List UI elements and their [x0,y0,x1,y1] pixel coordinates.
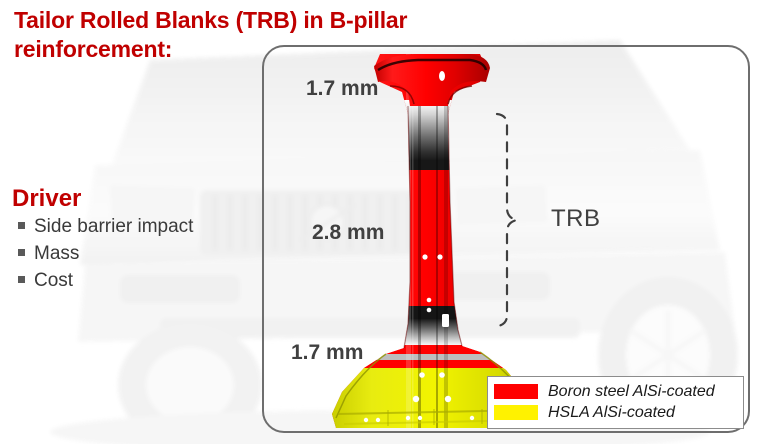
driver-heading: Driver [12,186,252,212]
list-item: Cost [12,268,252,295]
list-item: Side barrier impact [12,214,252,241]
legend-item-boron: Boron steel AlSi-coated [494,381,737,402]
legend: Boron steel AlSi-coated HSLA AlSi-coated [487,376,744,429]
thickness-label-bottom: 1.7 mm [291,341,363,365]
legend-label-hsla: HSLA AlSi-coated [548,404,675,422]
driver-bullet-label: Mass [34,241,79,268]
square-bullet-icon [18,249,25,256]
slide-canvas: Tailor Rolled Blanks (TRB) in B-pillar r… [0,0,768,444]
square-bullet-icon [18,222,25,229]
trb-label: TRB [551,205,601,233]
driver-bullet-label: Side barrier impact [34,214,193,241]
list-item: Mass [12,241,252,268]
legend-swatch-boron [494,384,538,399]
legend-swatch-hsla [494,405,538,420]
square-bullet-icon [18,276,25,283]
thickness-label-top: 1.7 mm [306,77,378,101]
trb-brace-icon [494,112,520,328]
thickness-label-middle: 2.8 mm [312,221,384,245]
legend-label-boron: Boron steel AlSi-coated [548,383,715,401]
legend-item-hsla: HSLA AlSi-coated [494,402,737,423]
driver-bullet-label: Cost [34,268,73,295]
driver-section: Driver Side barrier impact Mass Cost [12,186,252,295]
pillar-top-flange [374,54,490,106]
